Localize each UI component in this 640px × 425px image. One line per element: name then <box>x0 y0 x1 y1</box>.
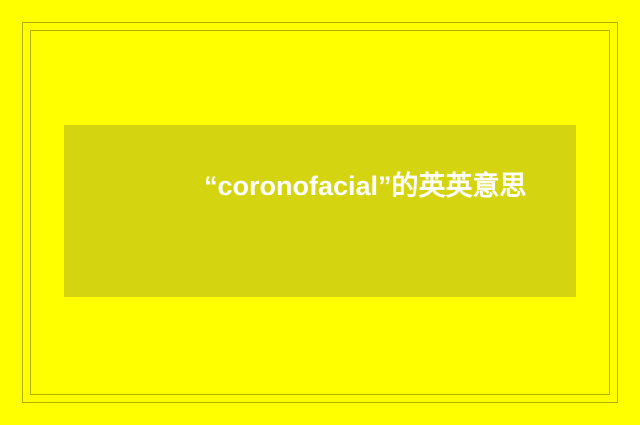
title-panel: “coronofacial”的英英意思 <box>64 125 576 297</box>
page-title: “coronofacial”的英英意思 <box>204 161 544 211</box>
page-canvas: “coronofacial”的英英意思 <box>0 0 640 425</box>
